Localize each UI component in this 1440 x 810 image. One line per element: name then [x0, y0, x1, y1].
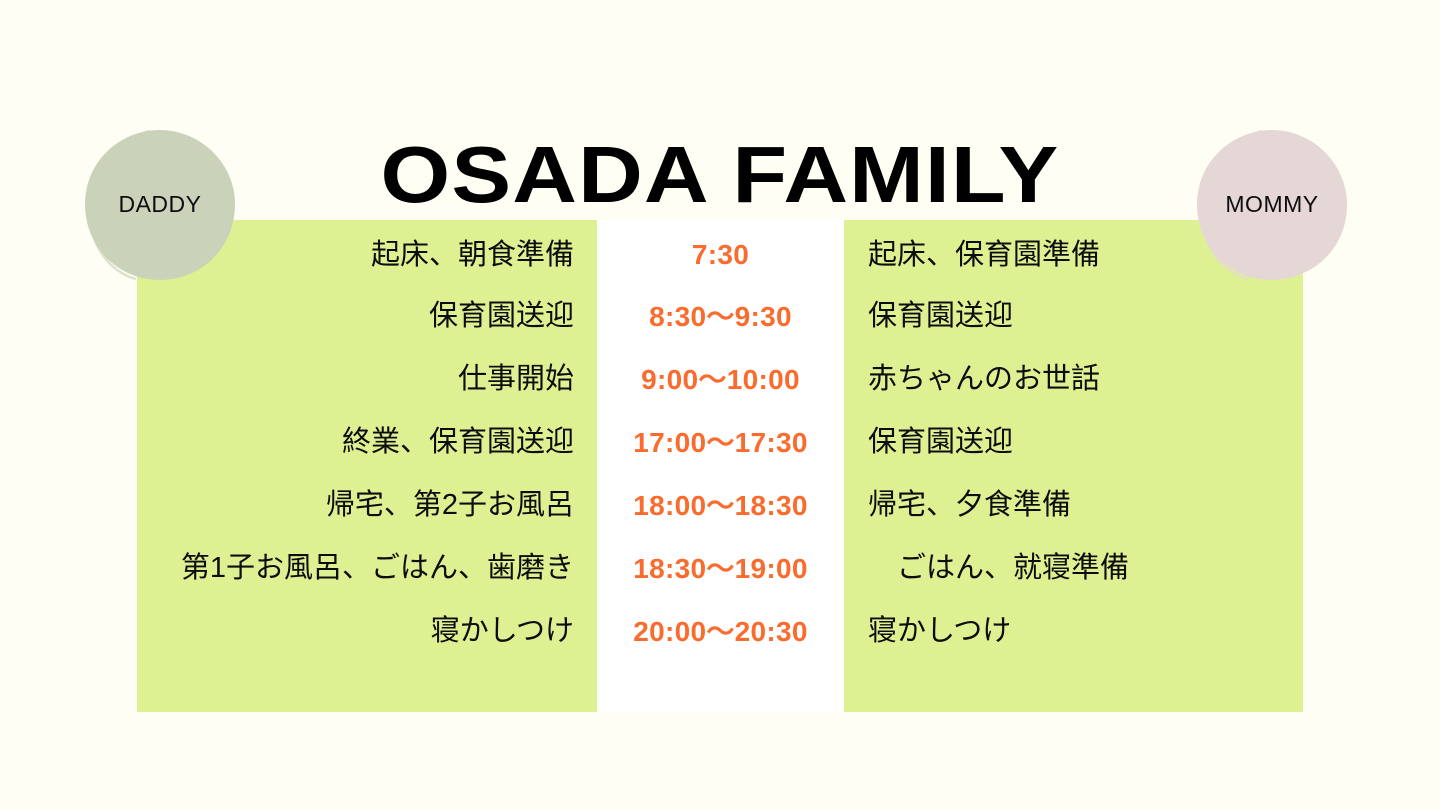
- daddy-task-cell: 仕事開始: [137, 348, 574, 411]
- time-cell: 18:00〜18:30: [597, 474, 844, 537]
- time-cell: 18:30〜19:00: [597, 537, 844, 600]
- time-cell: 20:00〜20:30: [597, 600, 844, 663]
- slide-canvas: OSADA FAMILY DADDY MOMMY 起床、朝食準備7:30起床、保…: [0, 0, 1440, 810]
- daddy-task-cell: 寝かしつけ: [137, 600, 574, 663]
- table-row: 帰宅、第2子お風呂18:00〜18:30帰宅、夕食準備: [0, 474, 1440, 537]
- schedule-table: 起床、朝食準備7:30起床、保育園準備保育園送迎8:30〜9:30保育園送迎仕事…: [0, 222, 1440, 663]
- table-row: 起床、朝食準備7:30起床、保育園準備: [0, 222, 1440, 285]
- time-cell: 7:30: [597, 222, 844, 288]
- time-cell: 8:30〜9:30: [597, 285, 844, 348]
- table-row: 仕事開始9:00〜10:00赤ちゃんのお世話: [0, 348, 1440, 411]
- table-row: 保育園送迎8:30〜9:30保育園送迎: [0, 285, 1440, 348]
- daddy-task-cell: 終業、保育園送迎: [137, 411, 574, 474]
- daddy-task-cell: 帰宅、第2子お風呂: [137, 474, 574, 537]
- time-cell: 9:00〜10:00: [597, 348, 844, 411]
- table-row: 寝かしつけ20:00〜20:30寝かしつけ: [0, 600, 1440, 663]
- mommy-task-cell: 赤ちゃんのお世話: [868, 348, 1288, 411]
- daddy-task-cell: 保育園送迎: [137, 285, 574, 348]
- mommy-task-cell: ごはん、就寝準備: [868, 537, 1288, 600]
- mommy-task-cell: 起床、保育園準備: [868, 222, 1288, 288]
- time-cell: 17:00〜17:30: [597, 411, 844, 474]
- mommy-task-cell: 保育園送迎: [868, 411, 1288, 474]
- mommy-task-cell: 寝かしつけ: [868, 600, 1288, 663]
- mommy-task-cell: 帰宅、夕食準備: [868, 474, 1288, 537]
- daddy-task-cell: 起床、朝食準備: [137, 222, 574, 288]
- daddy-task-cell: 第1子お風呂、ごはん、歯磨き: [137, 537, 574, 600]
- table-row: 終業、保育園送迎17:00〜17:30保育園送迎: [0, 411, 1440, 474]
- table-row: 第1子お風呂、ごはん、歯磨き18:30〜19:00 ごはん、就寝準備: [0, 537, 1440, 600]
- mommy-task-cell: 保育園送迎: [868, 285, 1288, 348]
